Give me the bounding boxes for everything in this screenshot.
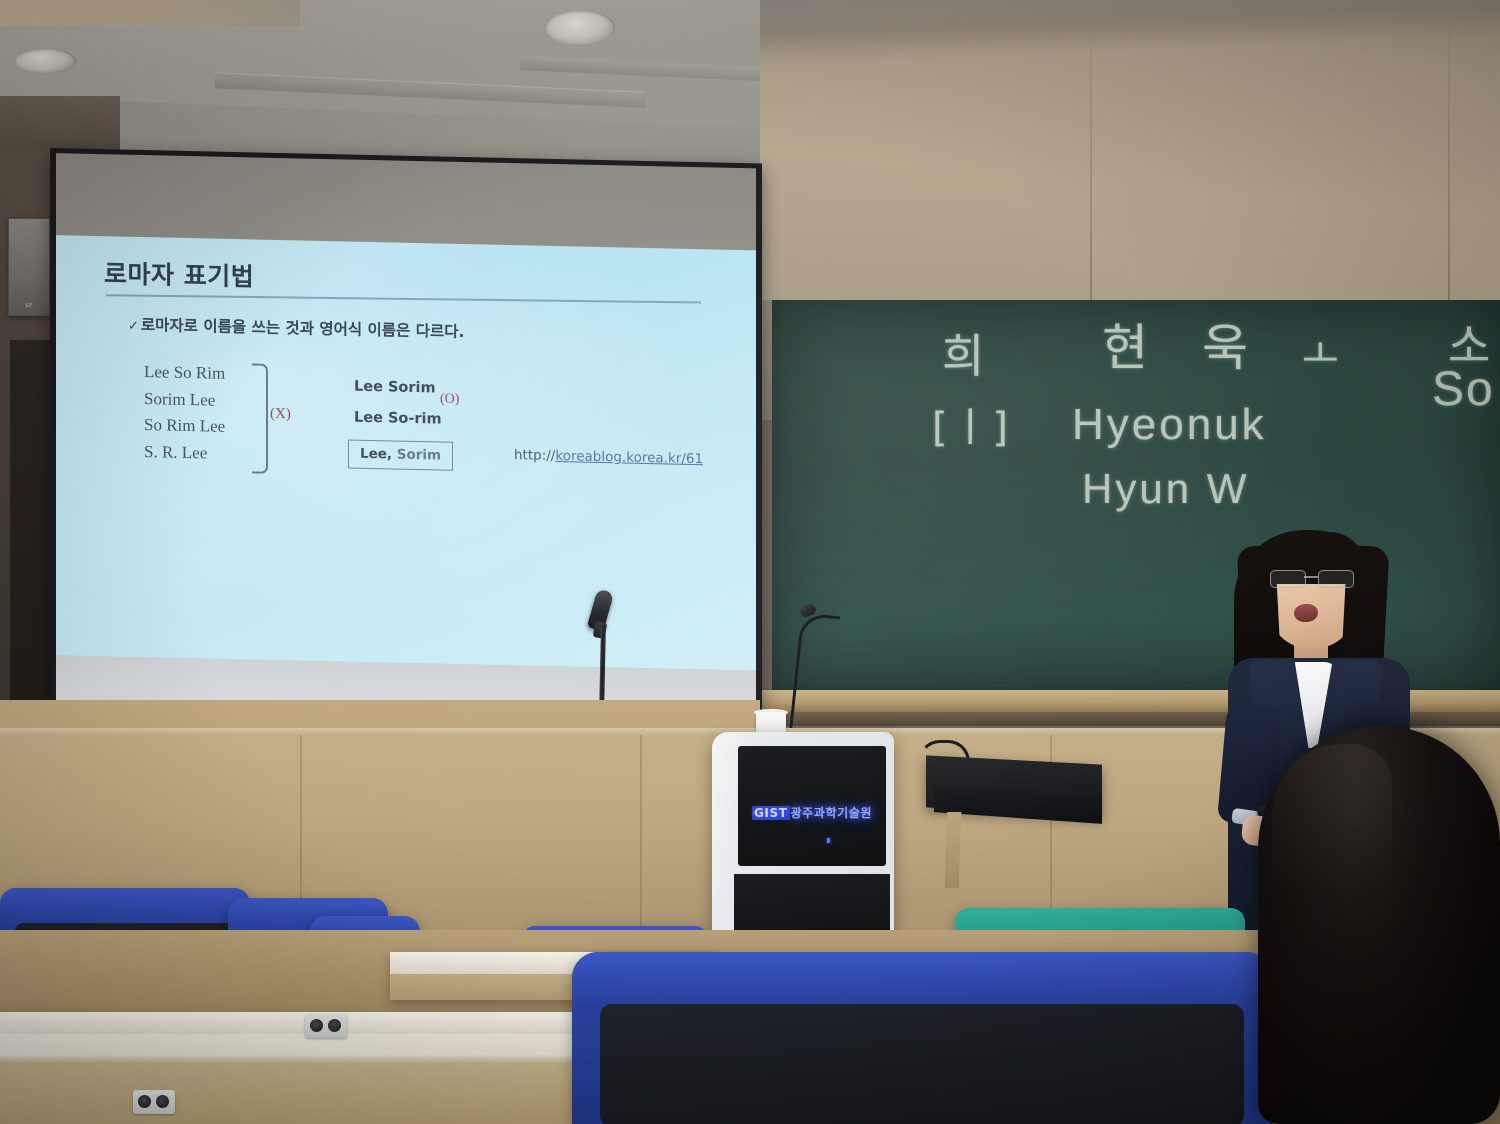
slide-bullet-text: 로마자로 이름을 쓰는 것과 영어식 이름은 다르다. bbox=[141, 316, 464, 341]
screen-surface: 로마자 표기법 ✓로마자로 이름을 쓰는 것과 영어식 이름은 다르다. Lee… bbox=[56, 153, 756, 727]
list-item: Sorim Lee bbox=[144, 386, 225, 414]
outlet-socket bbox=[310, 1019, 323, 1032]
wall-speaker-icon: SP bbox=[8, 218, 50, 316]
chalk-text-so-roman: So bbox=[1432, 362, 1495, 417]
url-prefix: http:// bbox=[514, 447, 555, 464]
wrong-mark: (X) bbox=[270, 406, 291, 423]
boxed-name-last: Lee, bbox=[360, 446, 392, 463]
speaker-label: SP bbox=[25, 303, 33, 309]
student-head-foreground bbox=[1258, 726, 1500, 1124]
glasses-bridge bbox=[1304, 576, 1318, 578]
institution-badge: GIST bbox=[752, 806, 790, 820]
outlet-socket bbox=[156, 1095, 169, 1108]
ceiling-warm-patch bbox=[0, 0, 300, 26]
lecture-hall-photo: SP 희 [ㅣ] 현 욱 Hyeonuk Hyun W ㅗ 소 So 로마자 표… bbox=[0, 0, 1500, 1124]
seat-foreground bbox=[572, 952, 1272, 1124]
wainscot-seam bbox=[640, 735, 642, 935]
wood-panel-seam bbox=[1448, 0, 1450, 330]
list-item: Lee Sorim bbox=[354, 372, 442, 405]
power-outlet bbox=[305, 1014, 347, 1038]
av-table-leg bbox=[945, 812, 962, 888]
podium-led-text: GIST광주과학기술원 bbox=[752, 804, 872, 821]
chalk-text-i-bracket: [ㅣ] bbox=[932, 395, 1012, 453]
right-examples-list: Lee Sorim Lee So-rim bbox=[354, 372, 442, 436]
chalk-text-hyun-w: Hyun W bbox=[1082, 465, 1249, 513]
list-item: Lee So-rim bbox=[354, 403, 442, 436]
power-outlet bbox=[133, 1090, 175, 1114]
downlight-icon bbox=[545, 10, 615, 46]
list-item: So Rim Lee bbox=[144, 412, 225, 440]
slide-bullet-line: ✓로마자로 이름을 쓰는 것과 영어식 이름은 다르다. bbox=[128, 313, 464, 342]
ceiling-air-vent bbox=[215, 72, 645, 108]
list-item: S. R. Lee bbox=[144, 439, 225, 467]
check-icon: ✓ bbox=[128, 319, 139, 334]
projected-slide: 로마자 표기법 ✓로마자로 이름을 쓰는 것과 영어식 이름은 다르다. Lee… bbox=[56, 235, 756, 670]
slide-title-underline bbox=[106, 294, 701, 303]
outlet-socket bbox=[328, 1019, 341, 1032]
desk-surface bbox=[0, 1012, 600, 1034]
curly-brace-icon bbox=[252, 363, 268, 473]
seat-back-panel bbox=[600, 1004, 1244, 1124]
url-link: koreablog.korea.kr/61 bbox=[555, 448, 703, 467]
wrong-examples-list: Lee So Rim Sorim Lee So Rim Lee S. R. Le… bbox=[144, 359, 225, 467]
list-item: Lee So Rim bbox=[144, 359, 225, 387]
seat-headrest bbox=[572, 952, 1272, 1010]
desk bbox=[0, 1012, 600, 1124]
boxed-name-format: Lee, Sorim bbox=[348, 440, 453, 471]
glasses-lens-left bbox=[1270, 570, 1306, 588]
slide-title: 로마자 표기법 bbox=[104, 254, 254, 293]
ceiling bbox=[0, 0, 860, 150]
institution-name: 광주과학기술원 bbox=[791, 806, 872, 820]
ceiling-air-vent bbox=[520, 56, 780, 82]
chalk-text-hui: 희 bbox=[942, 320, 984, 386]
chalk-text-hyeonuk: Hyeonuk bbox=[1072, 400, 1267, 450]
lectern-podium: GIST광주과학기술원 bbox=[712, 732, 894, 937]
boxed-name-first: Sorim bbox=[397, 447, 441, 464]
podium-display-panel: GIST광주과학기술원 bbox=[738, 746, 886, 866]
right-mark: (O) bbox=[440, 392, 459, 408]
podium-lower-panel bbox=[734, 874, 890, 937]
glasses-icon bbox=[1268, 570, 1356, 586]
chalk-text-hyeon: 현 bbox=[1102, 308, 1170, 380]
downlight-icon bbox=[14, 48, 76, 74]
outlet-socket bbox=[138, 1095, 151, 1108]
chalk-text-uk: 욱 bbox=[1202, 308, 1248, 380]
slide-source-url: http://koreablog.korea.kr/61 bbox=[514, 447, 703, 467]
projection-screen: 로마자 표기법 ✓로마자로 이름을 쓰는 것과 영어식 이름은 다르다. Lee… bbox=[50, 148, 762, 742]
glasses-lens-right bbox=[1318, 570, 1354, 588]
podium-led-indicator bbox=[827, 838, 830, 843]
chalk-text-o-vowel: ㅗ bbox=[1302, 322, 1339, 380]
